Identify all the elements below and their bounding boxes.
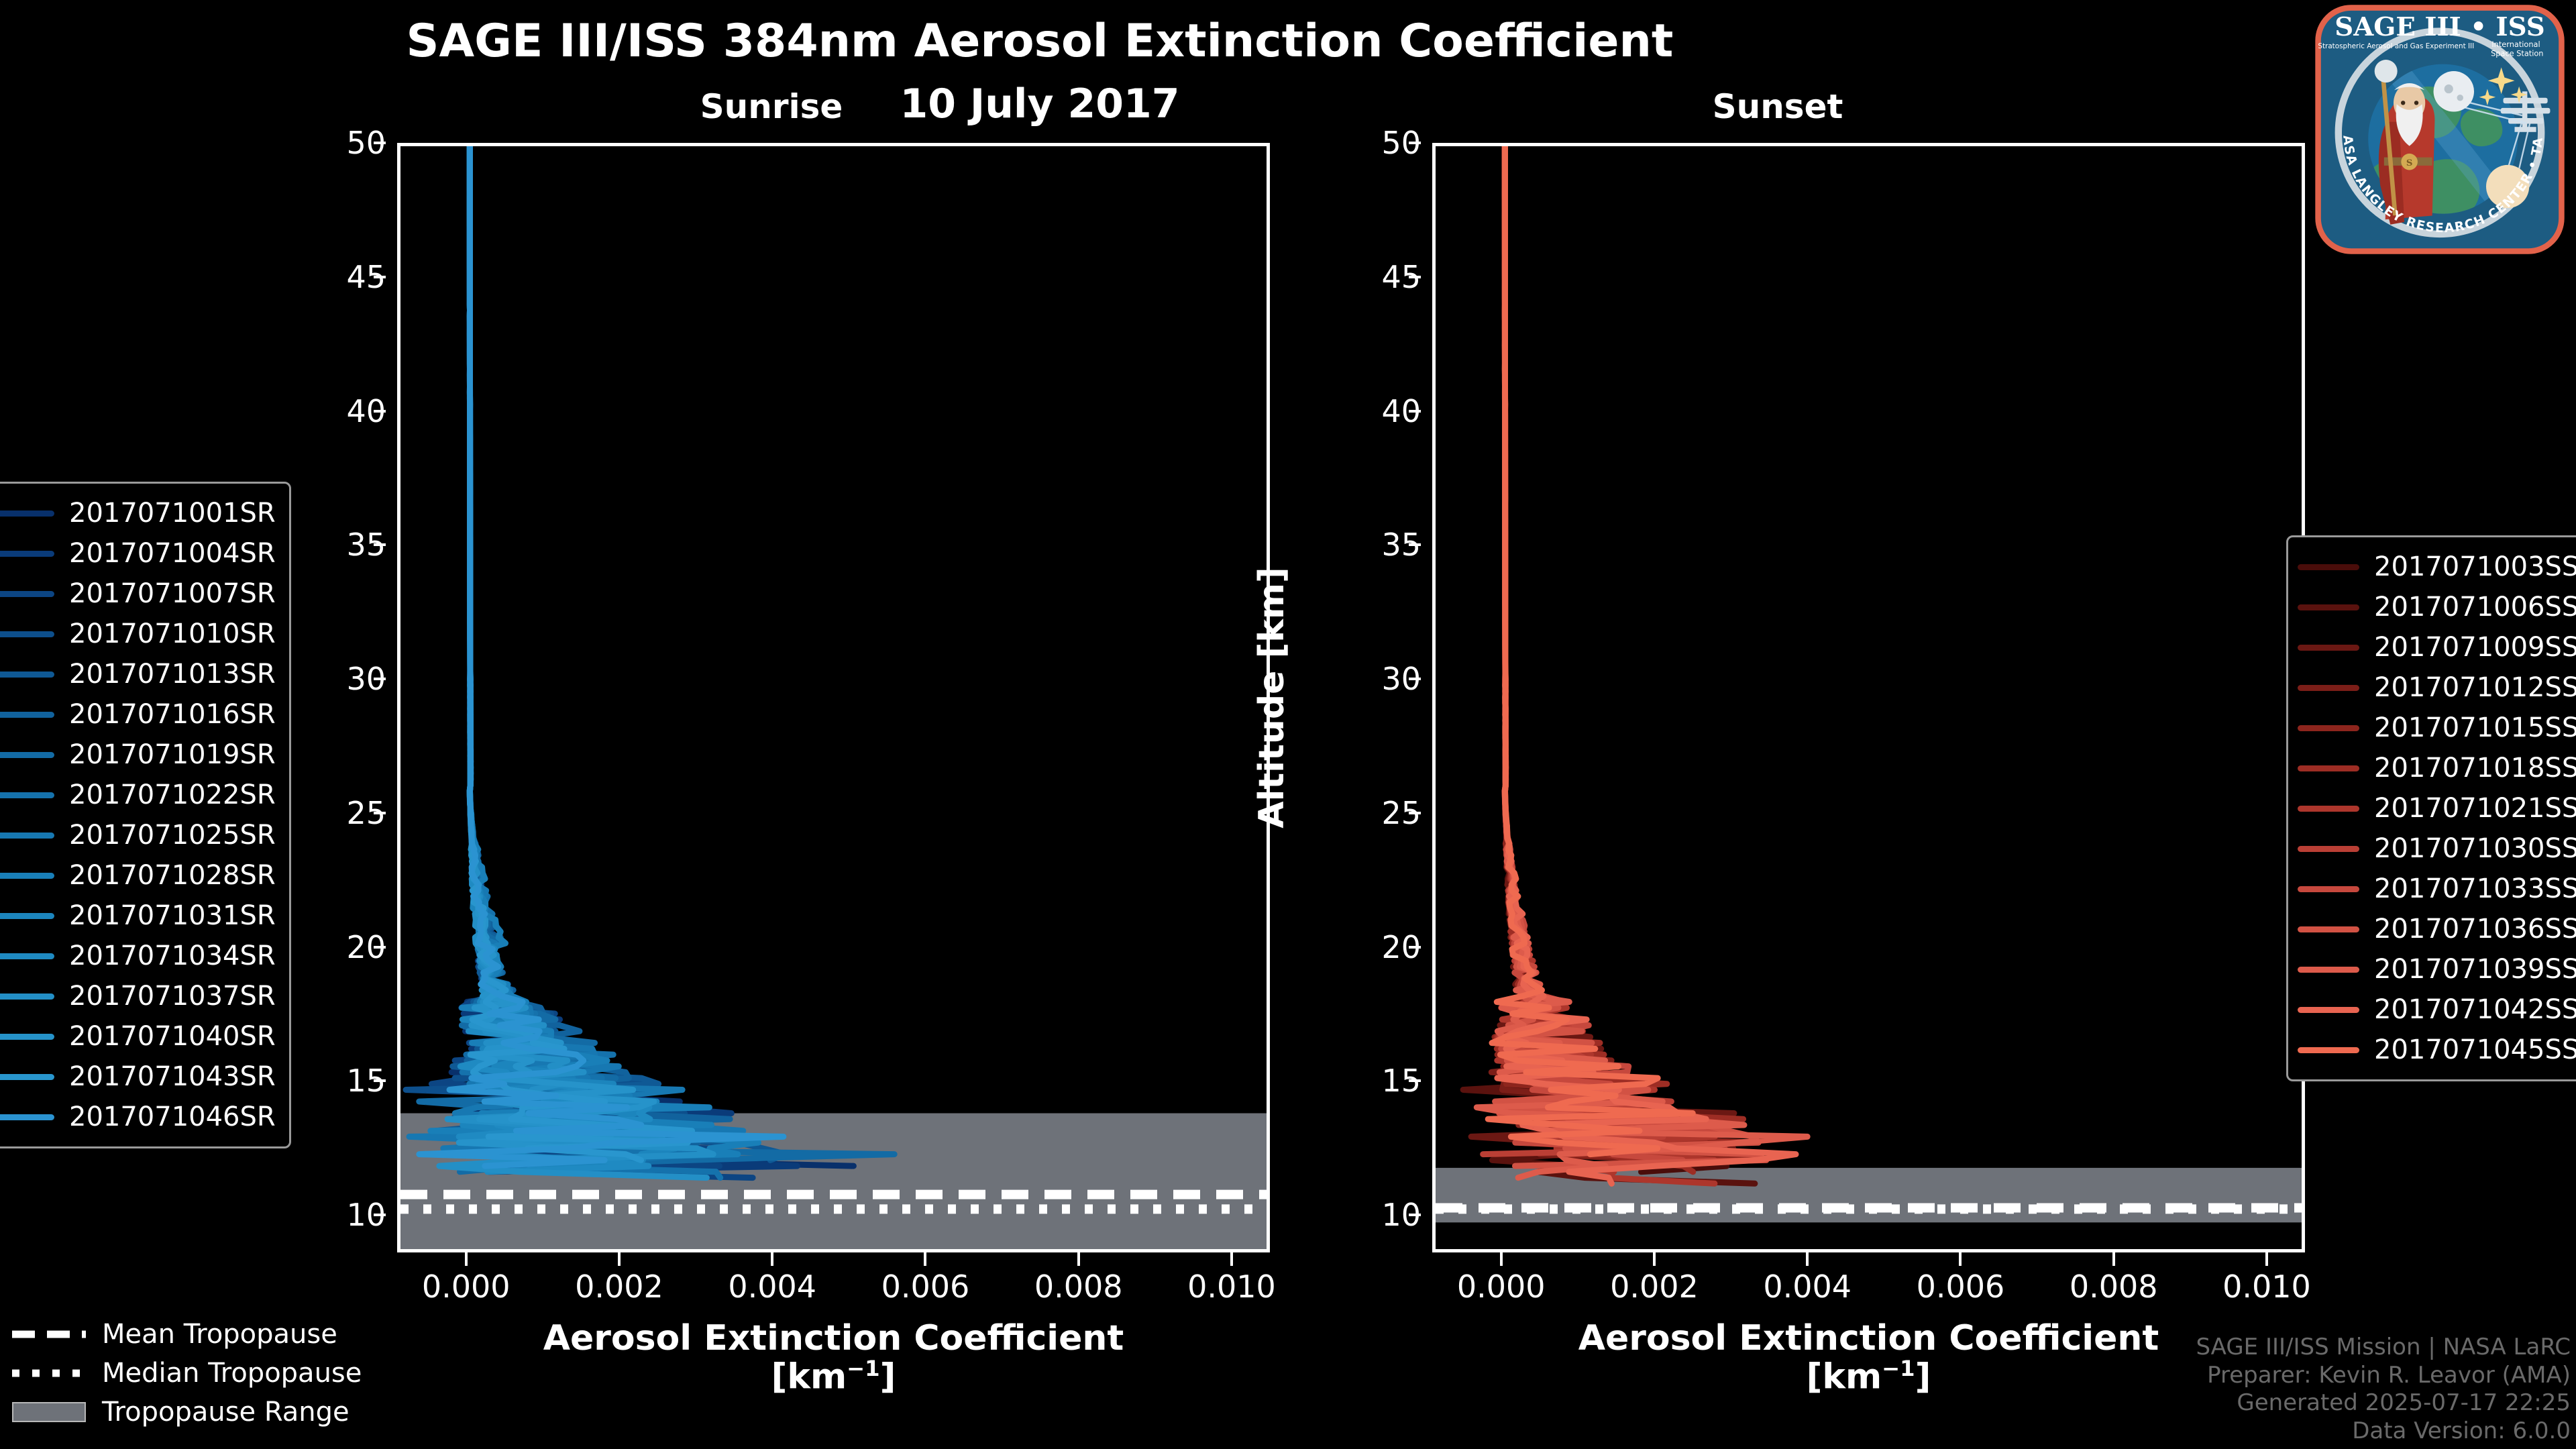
x-tick-mark xyxy=(1959,1252,1962,1266)
x-tick-mark xyxy=(465,1252,468,1266)
legend-sunset[interactable]: 2017071003SS2017071006SS2017071009SS2017… xyxy=(2286,535,2576,1081)
legend-color-swatch xyxy=(0,752,54,758)
profile-lines-sunrise xyxy=(400,146,1267,1249)
x-tick-label: 0.002 xyxy=(545,1269,693,1305)
legend-item[interactable]: 2017071016SR xyxy=(0,694,277,735)
y-tick-mark xyxy=(374,1214,386,1216)
x-tick-label: 0.002 xyxy=(1580,1269,1728,1305)
legend-sunrise[interactable]: 2017071001SR2017071004SR2017071007SR2017… xyxy=(0,482,291,1148)
legend-label: 2017071025SR xyxy=(69,820,276,851)
legend-item[interactable]: 2017071007SR xyxy=(0,574,277,614)
legend-label: 2017071003SS xyxy=(2374,551,2576,582)
legend-label: 2017071013SR xyxy=(69,659,276,690)
x-tick-label: 0.010 xyxy=(1158,1269,1305,1305)
logo-title-text: SAGE III • ISS xyxy=(2334,12,2544,42)
legend-item[interactable]: 2017071009SS xyxy=(2298,627,2576,667)
plot-area-sunrise xyxy=(400,146,1267,1249)
logo-subtitle-right-2: Space Station xyxy=(2491,48,2543,58)
legend-label: 2017071039SS xyxy=(2374,954,2576,985)
y-tick-mark xyxy=(1409,1214,1421,1216)
legend-label: 2017071030SS xyxy=(2374,833,2576,864)
legend-item[interactable]: 2017071030SS xyxy=(2298,828,2576,869)
sage-iii-iss-mission-patch-logo: S SAGE III • ISS Stratospheric Aerosol a… xyxy=(2309,3,2571,256)
legend-color-swatch xyxy=(2298,645,2359,651)
svg-text:International Space Stat: International Space Station xyxy=(2491,40,2543,58)
plot-panel-sunrise xyxy=(397,143,1270,1252)
x-tick-label: 0.006 xyxy=(1886,1269,2034,1305)
y-tick-mark xyxy=(1409,276,1421,278)
x-axis-sunset: 0.0000.0020.0040.0060.0080.010 xyxy=(1432,1252,2305,1306)
x-tick-mark xyxy=(771,1252,773,1266)
legend-label: 2017071004SR xyxy=(69,538,276,569)
legend-item[interactable]: 2017071004SR xyxy=(0,533,277,574)
y-tick-mark xyxy=(374,678,386,680)
legend-label: 2017071031SR xyxy=(69,900,276,931)
legend-color-swatch xyxy=(2298,846,2359,852)
legend-item-median-tropopause: Median Tropopause xyxy=(12,1354,361,1393)
legend-item[interactable]: 2017071036SS xyxy=(2298,909,2576,949)
legend-item[interactable]: 2017071028SR xyxy=(0,855,277,896)
legend-color-swatch xyxy=(0,833,54,839)
legend-item[interactable]: 2017071015SS xyxy=(2298,708,2576,748)
x-tick-label: 0.008 xyxy=(2040,1269,2188,1305)
y-axis-label-text: Altitude [km] xyxy=(1252,567,1292,828)
legend-color-swatch xyxy=(2298,685,2359,691)
x-axis-units-sunset: [km−1] xyxy=(1432,1357,2305,1395)
legend-color-swatch xyxy=(0,913,54,919)
legend-item[interactable]: 2017071040SR xyxy=(0,1016,277,1057)
legend-color-swatch xyxy=(2298,967,2359,973)
legend-label: 2017071034SR xyxy=(69,941,276,971)
x-axis-units-sunrise: [km−1] xyxy=(397,1357,1270,1395)
legend-color-swatch xyxy=(2298,886,2359,892)
y-axis-sunset: 101520253035404550 xyxy=(1303,143,1421,1252)
legend-item[interactable]: 2017071018SS xyxy=(2298,748,2576,788)
x-tick-label: 0.010 xyxy=(2193,1269,2341,1305)
legend-item[interactable]: 2017071006SS xyxy=(2298,587,2576,627)
y-tick-label: 45 xyxy=(1320,259,1421,295)
legend-label: 2017071021SS xyxy=(2374,793,2576,824)
y-tick-label: 35 xyxy=(285,527,386,563)
x-axis-label-text: Aerosol Extinction Coefficient xyxy=(543,1318,1124,1358)
legend-label: 2017071042SS xyxy=(2374,994,2576,1025)
legend-color-swatch xyxy=(0,1074,54,1080)
legend-color-swatch xyxy=(0,511,54,517)
y-tick-mark xyxy=(374,410,386,413)
legend-label: 2017071009SS xyxy=(2374,632,2576,663)
x-axis-sunrise: 0.0000.0020.0040.0060.0080.010 xyxy=(397,1252,1270,1306)
x-tick-mark xyxy=(924,1252,926,1266)
footer-attribution: SAGE III/ISS Mission | NASA LaRC Prepare… xyxy=(2196,1334,2571,1445)
legend-color-swatch xyxy=(2298,1047,2359,1053)
legend-item[interactable]: 2017071019SR xyxy=(0,735,277,775)
legend-label: 2017071040SR xyxy=(69,1021,276,1052)
legend-item[interactable]: 2017071045SS xyxy=(2298,1030,2576,1070)
legend-item[interactable]: 2017071001SR xyxy=(0,493,277,533)
legend-color-swatch xyxy=(0,672,54,678)
x-axis-label-text: Aerosol Extinction Coefficient xyxy=(1578,1318,2159,1358)
x-tick-label: 0.000 xyxy=(1428,1269,1575,1305)
x-tick-label: 0.004 xyxy=(1733,1269,1881,1305)
legend-item[interactable]: 2017071034SR xyxy=(0,936,277,976)
legend-item[interactable]: 2017071031SR xyxy=(0,896,277,936)
x-tick-mark xyxy=(2112,1252,2115,1266)
y-tick-mark xyxy=(374,543,386,546)
profile-line xyxy=(1488,146,1693,1155)
legend-label: 2017071007SR xyxy=(69,578,276,609)
x-tick-mark xyxy=(1077,1252,1080,1266)
legend-item[interactable]: 2017071025SR xyxy=(0,815,277,855)
legend-color-swatch xyxy=(2298,765,2359,771)
plot-area-sunset xyxy=(1436,146,2302,1249)
legend-label: 2017071037SR xyxy=(69,981,276,1012)
y-axis-label-sunset: Altitude [km] xyxy=(1248,143,1295,1252)
y-tick-label: 15 xyxy=(285,1063,386,1099)
legend-label: 2017071015SS xyxy=(2374,712,2576,743)
legend-color-swatch xyxy=(0,953,54,959)
x-tick-mark xyxy=(618,1252,621,1266)
y-tick-label: 50 xyxy=(285,125,386,161)
legend-color-swatch xyxy=(2298,806,2359,812)
y-tick-label: 50 xyxy=(1320,125,1421,161)
x-tick-mark xyxy=(1500,1252,1503,1266)
svg-text:SAGE III • ISS: SAGE III • ISS xyxy=(2334,12,2544,42)
legend-item[interactable]: 2017071037SR xyxy=(0,976,277,1016)
legend-label-mean-tropopause: Mean Tropopause xyxy=(102,1319,337,1350)
footer-data-version: Data Version: 6.0.0 xyxy=(2196,1417,2571,1445)
x-tick-label: 0.000 xyxy=(392,1269,540,1305)
legend-color-swatch xyxy=(0,591,54,597)
legend-label: 2017071033SS xyxy=(2374,873,2576,904)
legend-label: 2017071016SR xyxy=(69,699,276,730)
footer-mission: SAGE III/ISS Mission | NASA LaRC xyxy=(2196,1334,2571,1361)
legend-label: 2017071010SR xyxy=(69,619,276,649)
x-axis-label-sunset: Aerosol Extinction Coefficient [km−1] xyxy=(1432,1320,2305,1396)
legend-item[interactable]: 2017071013SR xyxy=(0,654,277,694)
legend-label-median-tropopause: Median Tropopause xyxy=(102,1358,362,1389)
legend-color-swatch xyxy=(0,792,54,798)
y-tick-mark xyxy=(374,276,386,278)
legend-label: 2017071028SR xyxy=(69,860,276,891)
legend-color-swatch xyxy=(0,994,54,1000)
legend-item[interactable]: 2017071010SR xyxy=(0,614,277,654)
y-tick-label: 10 xyxy=(285,1197,386,1233)
legend-item[interactable]: 2017071012SS xyxy=(2298,667,2576,708)
legend-color-swatch xyxy=(0,631,54,637)
legend-label: 2017071018SS xyxy=(2374,753,2576,784)
panel-title-sunrise: Sunrise xyxy=(671,87,872,126)
legend-color-swatch xyxy=(0,712,54,718)
y-tick-label: 40 xyxy=(285,393,386,429)
legend-color-swatch xyxy=(2298,564,2359,570)
y-tick-label: 35 xyxy=(1320,527,1421,563)
y-tick-mark xyxy=(374,1079,386,1082)
y-tick-label: 20 xyxy=(285,929,386,965)
legend-tropopause: Mean Tropopause Median Tropopause Tropop… xyxy=(12,1315,361,1432)
x-tick-mark xyxy=(1806,1252,1809,1266)
panel-title-sunset: Sunset xyxy=(1664,87,1892,126)
legend-color-swatch xyxy=(2298,1007,2359,1013)
y-tick-label: 30 xyxy=(1320,661,1421,697)
legend-label: 2017071043SR xyxy=(69,1061,276,1092)
legend-item[interactable]: 2017071033SS xyxy=(2298,869,2576,909)
legend-item[interactable]: 2017071046SR xyxy=(0,1097,277,1137)
x-tick-label: 0.006 xyxy=(851,1269,999,1305)
legend-label: 2017071046SR xyxy=(69,1102,276,1132)
x-tick-label: 0.008 xyxy=(1005,1269,1152,1305)
svg-text:Stratospheric Aerosol and Gas: Stratospheric Aerosol and Gas Experiment… xyxy=(2318,42,2474,50)
y-tick-label: 25 xyxy=(285,795,386,831)
legend-item[interactable]: 2017071039SS xyxy=(2298,949,2576,989)
y-tick-label: 30 xyxy=(285,661,386,697)
y-tick-label: 45 xyxy=(285,259,386,295)
legend-label: 2017071045SS xyxy=(2374,1034,2576,1065)
legend-item[interactable]: 2017071043SR xyxy=(0,1057,277,1097)
y-tick-mark xyxy=(1409,678,1421,680)
y-tick-label: 40 xyxy=(1320,393,1421,429)
dotted-line-icon xyxy=(12,1366,86,1381)
legend-label: 2017071019SR xyxy=(69,739,276,770)
legend-color-swatch xyxy=(0,873,54,879)
legend-item[interactable]: 2017071003SS xyxy=(2298,547,2576,587)
y-tick-mark xyxy=(1409,946,1421,949)
footer-generated: Generated 2025-07-17 22:25 xyxy=(2196,1389,2571,1417)
footer-preparer: Preparer: Kevin R. Leavor (AMA) xyxy=(2196,1362,2571,1389)
legend-label: 2017071012SS xyxy=(2374,672,2576,703)
x-axis-label-sunrise: Aerosol Extinction Coefficient [km−1] xyxy=(397,1320,1270,1396)
legend-item[interactable]: 2017071022SR xyxy=(0,775,277,815)
logo-subtitle-right-1: International xyxy=(2491,40,2540,49)
dashed-line-icon xyxy=(12,1327,86,1342)
svg-text:S: S xyxy=(2406,158,2413,168)
y-tick-mark xyxy=(1409,1079,1421,1082)
legend-label: 2017071022SR xyxy=(69,780,276,810)
y-tick-mark xyxy=(1409,812,1421,814)
x-tick-label: 0.004 xyxy=(698,1269,846,1305)
legend-label-tropopause-range: Tropopause Range xyxy=(102,1397,350,1428)
logo-subtitle-left: Stratospheric Aerosol and Gas Experiment… xyxy=(2318,42,2474,50)
legend-label: 2017071036SS xyxy=(2374,914,2576,945)
band-swatch-icon xyxy=(12,1402,86,1422)
y-tick-label: 20 xyxy=(1320,929,1421,965)
y-tick-mark xyxy=(1409,543,1421,546)
y-tick-mark xyxy=(374,946,386,949)
profile-line xyxy=(406,146,722,1148)
plot-panel-sunset xyxy=(1432,143,2305,1252)
y-tick-mark xyxy=(1409,142,1421,144)
y-tick-label: 10 xyxy=(1320,1197,1421,1233)
legend-label: 2017071001SR xyxy=(69,498,276,529)
x-tick-mark xyxy=(2265,1252,2268,1266)
x-tick-mark xyxy=(1653,1252,1656,1266)
legend-item[interactable]: 2017071042SS xyxy=(2298,989,2576,1030)
y-tick-mark xyxy=(374,142,386,144)
profile-lines-sunset xyxy=(1436,146,2302,1249)
profile-line xyxy=(409,146,743,1148)
legend-color-swatch xyxy=(2298,725,2359,731)
legend-color-swatch xyxy=(0,1034,54,1040)
legend-item[interactable]: 2017071021SS xyxy=(2298,788,2576,828)
legend-color-swatch xyxy=(0,551,54,557)
legend-item-mean-tropopause: Mean Tropopause xyxy=(12,1315,361,1354)
y-tick-mark xyxy=(374,812,386,814)
y-tick-label: 15 xyxy=(1320,1063,1421,1099)
y-tick-label: 25 xyxy=(1320,795,1421,831)
legend-item-tropopause-range: Tropopause Range xyxy=(12,1393,361,1432)
page-title: SAGE III/ISS 384nm Aerosol Extinction Co… xyxy=(0,15,2080,68)
legend-color-swatch xyxy=(2298,604,2359,610)
legend-label: 2017071006SS xyxy=(2374,592,2576,623)
legend-color-swatch xyxy=(2298,926,2359,932)
y-tick-mark xyxy=(1409,410,1421,413)
x-tick-mark xyxy=(1230,1252,1233,1266)
legend-color-swatch xyxy=(0,1114,54,1120)
